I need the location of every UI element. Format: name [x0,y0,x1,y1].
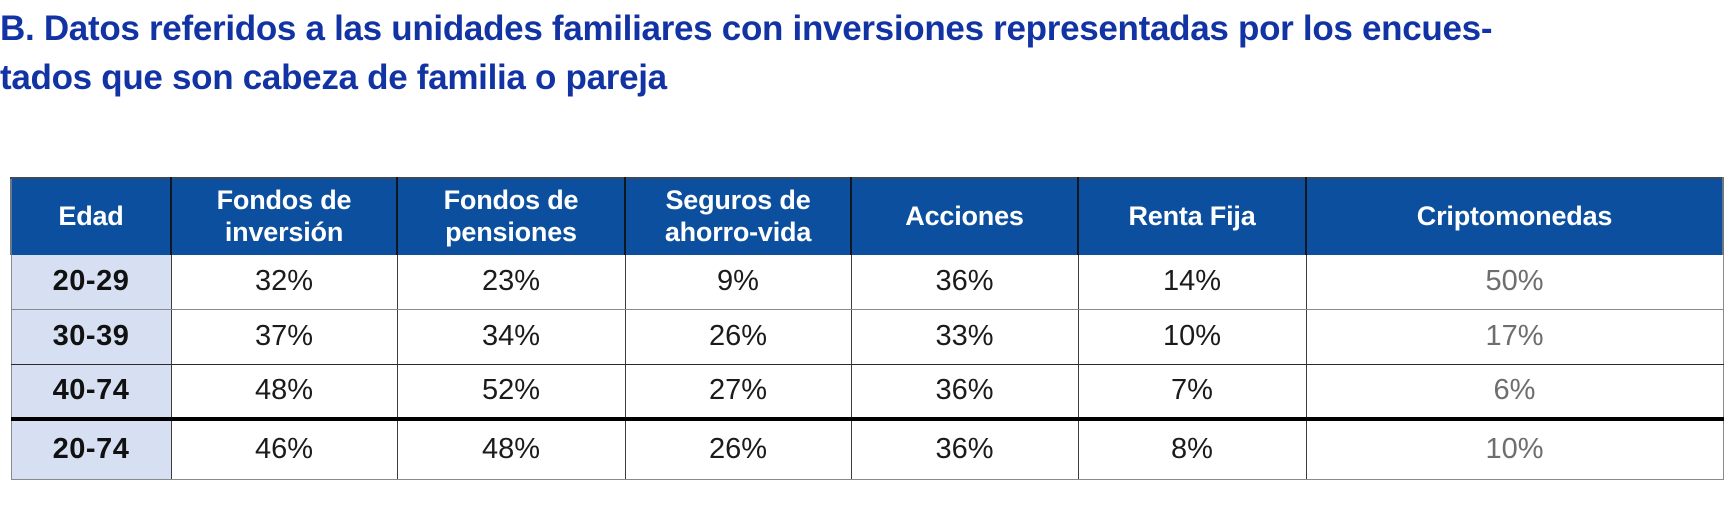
column-header-fondos-pensiones: Fondos de pensiones [397,178,625,254]
section-title: B. Datos referidos a las unidades famili… [0,4,1730,102]
section-title-line-1: B. Datos referidos a las unidades famili… [0,4,1730,53]
column-header-fondos-inversion-line-1: Fondos de [217,185,352,215]
column-header-edad-line-1: Edad [58,201,123,231]
column-header-acciones-line-1: Acciones [905,201,1023,231]
cell-fondos-inversion: 37% [171,309,397,364]
cell-acciones: 36% [851,254,1078,309]
cell-seguros-ahorro-vida: 26% [625,419,851,479]
column-header-renta-fija-line-1: Renta Fija [1128,201,1255,231]
cell-seguros-ahorro-vida: 27% [625,364,851,419]
column-header-fondos-pensiones-line-2: pensiones [445,217,577,247]
column-header-fondos-pensiones-line-1: Fondos de [444,185,579,215]
cell-fondos-inversion: 46% [171,419,397,479]
cell-fondos-inversion: 48% [171,364,397,419]
table-header: Edad Fondos de inversión Fondos de pensi… [11,178,1723,254]
cell-renta-fija: 10% [1078,309,1306,364]
cell-seguros-ahorro-vida: 9% [625,254,851,309]
column-header-renta-fija: Renta Fija [1078,178,1306,254]
cell-fondos-pensiones: 34% [397,309,625,364]
cell-fondos-pensiones: 23% [397,254,625,309]
cell-renta-fija: 7% [1078,364,1306,419]
table-row: 30-39 37% 34% 26% 33% 10% 17% [11,309,1723,364]
cell-renta-fija: 8% [1078,419,1306,479]
table-row-total: 20-74 46% 48% 26% 36% 8% 10% [11,419,1723,479]
cell-criptomonedas: 50% [1306,254,1723,309]
data-table-container: Edad Fondos de inversión Fondos de pensi… [10,177,1722,480]
cell-acciones: 36% [851,419,1078,479]
table-body: 20-29 32% 23% 9% 36% 14% 50% 30-39 37% 3… [11,254,1723,479]
cell-fondos-pensiones: 48% [397,419,625,479]
cell-age: 20-74 [11,419,171,479]
cell-criptomonedas: 6% [1306,364,1723,419]
cell-fondos-inversion: 32% [171,254,397,309]
column-header-fondos-inversion-line-2: inversión [225,217,343,247]
column-header-seguros-ahorro-vida: Seguros de ahorro-vida [625,178,851,254]
column-header-acciones: Acciones [851,178,1078,254]
cell-criptomonedas: 17% [1306,309,1723,364]
cell-acciones: 33% [851,309,1078,364]
column-header-criptomonedas-line-1: Criptomonedas [1417,201,1612,231]
cell-renta-fija: 14% [1078,254,1306,309]
section-title-line-2: tados que son cabeza de familia o pareja [0,53,1730,102]
table-row: 40-74 48% 52% 27% 36% 7% 6% [11,364,1723,419]
cell-acciones: 36% [851,364,1078,419]
column-header-edad: Edad [11,178,171,254]
cell-criptomonedas: 10% [1306,419,1723,479]
column-header-criptomonedas: Criptomonedas [1306,178,1723,254]
cell-age: 20-29 [11,254,171,309]
cell-age: 40-74 [11,364,171,419]
table-row: 20-29 32% 23% 9% 36% 14% 50% [11,254,1723,309]
page-root: B. Datos referidos a las unidades famili… [0,0,1730,518]
column-header-seguros-ahorro-vida-line-1: Seguros de [665,185,810,215]
cell-seguros-ahorro-vida: 26% [625,309,851,364]
column-header-fondos-inversion: Fondos de inversión [171,178,397,254]
cell-fondos-pensiones: 52% [397,364,625,419]
cell-age: 30-39 [11,309,171,364]
data-table: Edad Fondos de inversión Fondos de pensi… [10,177,1724,480]
table-header-row: Edad Fondos de inversión Fondos de pensi… [11,178,1723,254]
column-header-seguros-ahorro-vida-line-2: ahorro-vida [665,217,811,247]
